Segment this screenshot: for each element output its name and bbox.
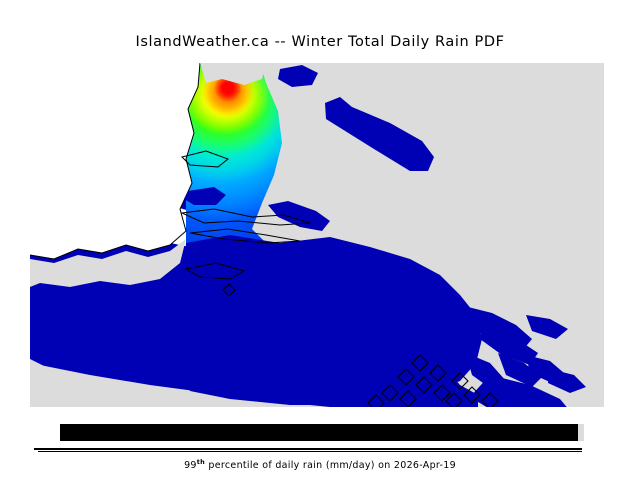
colorbar[interactable] [60, 424, 580, 442]
colorbar-axis-line [34, 448, 582, 450]
colorbar-overflow-swatch [578, 424, 584, 441]
colorbar-axis-line-secondary [38, 451, 582, 452]
caption-rest: percentile of daily rain (mm/day) on 202… [205, 460, 456, 471]
water-overlay-north-island [278, 65, 318, 87]
map-panel[interactable] [30, 63, 604, 407]
colorbar-gradient [60, 424, 578, 441]
water-overlay-north-strait [325, 97, 434, 171]
water-overlay-se-5 [548, 369, 586, 393]
screenshot-root: IslandWeather.ca -- Winter Total Daily R… [0, 0, 640, 480]
caption-ordinal-suffix: th [197, 458, 205, 466]
water-overlay-mid-1 [268, 201, 330, 231]
water-overlay-mid-2 [184, 187, 226, 205]
colorbar-caption: 99th percentile of daily rain (mm/day) o… [0, 458, 640, 471]
page-title: IslandWeather.ca -- Winter Total Daily R… [0, 34, 640, 50]
water-overlay-se-6 [526, 315, 568, 339]
water-overlay [30, 63, 604, 407]
caption-percentile-number: 99 [184, 460, 197, 471]
